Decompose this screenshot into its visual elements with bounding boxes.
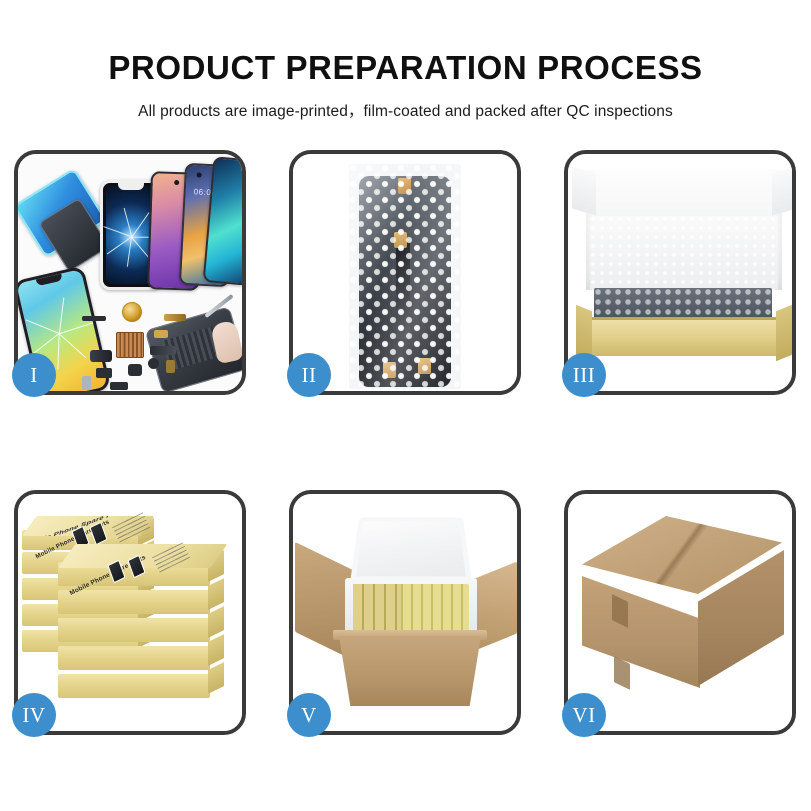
- step-1-image: 06:08: [18, 154, 242, 391]
- spare-part-icon: [110, 382, 128, 390]
- step-badge-3: III: [562, 353, 606, 397]
- spare-part-icon: [82, 316, 106, 321]
- spare-part-icon: [96, 368, 112, 378]
- spare-part-icon: [164, 314, 186, 321]
- process-step-panel-6: VI: [564, 490, 796, 735]
- step-3-image: [568, 154, 792, 391]
- step-2-image: [293, 154, 517, 391]
- page-subtitle: All products are image-printed，film-coat…: [0, 99, 811, 121]
- packed-gold-boxes-icon: [353, 584, 401, 632]
- process-step-panel-4: Mobile Phone Spare Parts Mobile Phone Sp…: [14, 490, 246, 735]
- foam-lid-icon: [350, 517, 472, 581]
- step-badge-2: II: [287, 353, 331, 397]
- spare-part-icon: [82, 376, 91, 390]
- spare-part-icon: [90, 350, 112, 362]
- bubble-wrapped-screen-icon: [349, 164, 461, 389]
- step-badge-4: IV: [12, 693, 56, 737]
- step-4-image: Mobile Phone Spare Parts Mobile Phone Sp…: [18, 494, 242, 731]
- step-badge-5: V: [287, 693, 331, 737]
- product-preparation-process-page: PRODUCT PREPARATION PROCESS All products…: [0, 0, 811, 811]
- process-step-panel-2: II: [289, 150, 521, 395]
- foam-liner-icon: [590, 216, 778, 290]
- process-step-panel-5: V: [289, 490, 521, 735]
- spare-part-icon: [128, 364, 142, 376]
- page-header: PRODUCT PREPARATION PROCESS All products…: [0, 0, 811, 121]
- process-step-panel-1: 06:08: [14, 150, 246, 395]
- step-badge-6: VI: [562, 693, 606, 737]
- gold-coil-part-icon: [122, 302, 142, 322]
- step-6-image: [568, 494, 792, 731]
- step-badge-1: I: [12, 353, 56, 397]
- spare-part-icon: [166, 360, 175, 373]
- gold-box-base-icon: [588, 320, 780, 356]
- gold-box-stack-icon: Mobile Phone Spare Parts Mobile Phone Sp…: [18, 494, 242, 731]
- page-title: PRODUCT PREPARATION PROCESS: [0, 49, 811, 87]
- process-steps-grid: 06:08: [14, 150, 797, 735]
- step-5-image: [293, 494, 517, 731]
- spare-part-icon: [150, 346, 176, 355]
- chip-grid-part-icon: [116, 332, 144, 358]
- spare-part-icon: [154, 330, 168, 338]
- process-step-panel-3: III: [564, 150, 796, 395]
- carton-left-face-icon: [582, 576, 700, 688]
- carton-front-icon: [339, 636, 481, 706]
- spare-part-icon: [148, 358, 159, 369]
